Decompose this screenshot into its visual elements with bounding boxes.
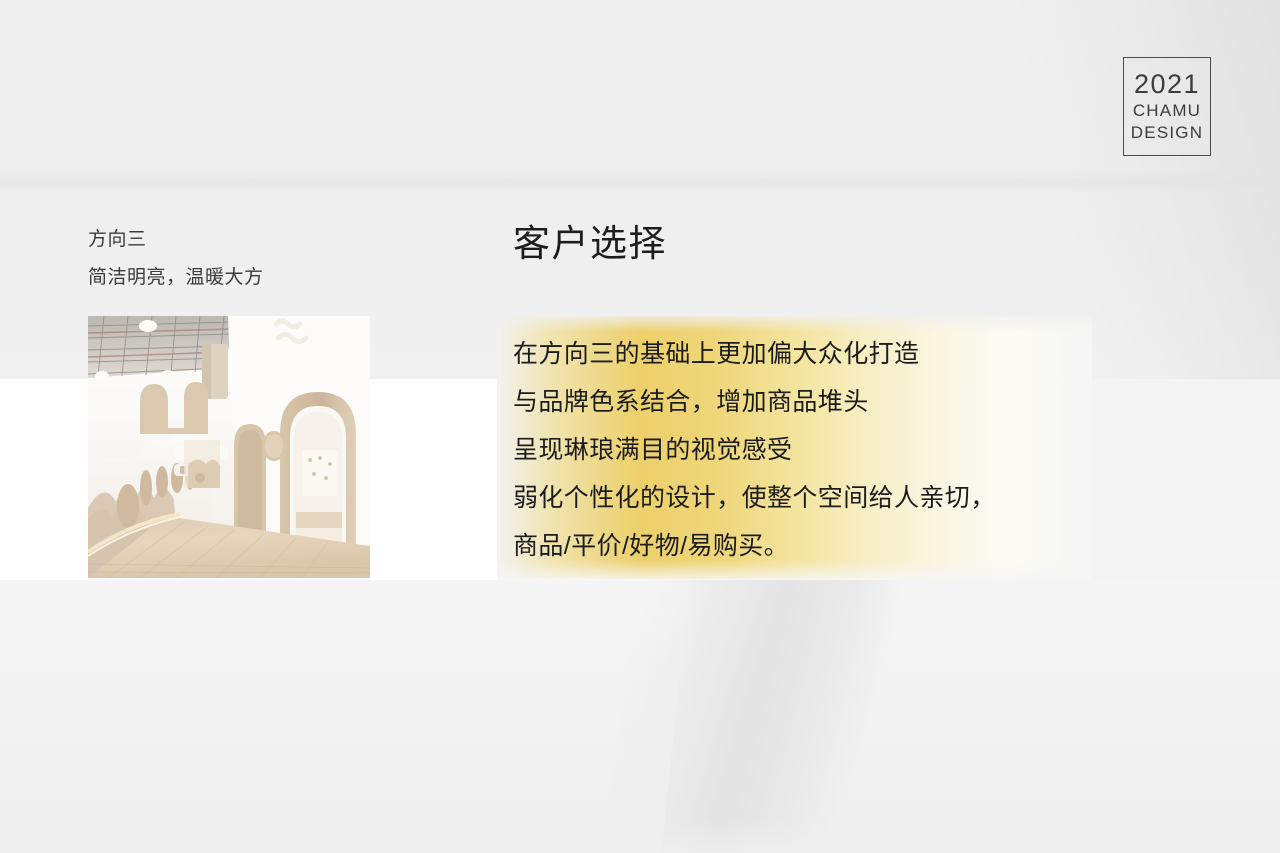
body-copy-block: 在方向三的基础上更加偏大众化打造 与品牌色系结合，增加商品堆头 呈现琳琅满目的视… xyxy=(513,330,1133,570)
body-line: 商品/平价/好物/易购买。 xyxy=(513,522,1133,570)
background-ceiling-seam xyxy=(0,168,1280,194)
background-diagonal-shadow xyxy=(661,580,930,853)
brand-logo: 2021 CHAMU DESIGN xyxy=(1123,57,1211,156)
left-caption-block: 方向三 简洁明亮，温暖大方 xyxy=(88,230,388,287)
body-line: 与品牌色系结合，增加商品堆头 xyxy=(513,378,1133,426)
logo-brand-text: CHAMU xyxy=(1133,100,1201,122)
body-line: 在方向三的基础上更加偏大众化打造 xyxy=(513,330,1133,378)
logo-year-text: 2021 xyxy=(1134,70,1200,98)
presentation-slide: 2021 CHAMU DESIGN 方向三 简洁明亮，温暖大方 xyxy=(0,0,1280,853)
caption-title: 方向三 xyxy=(88,230,388,249)
background-bottom-edge xyxy=(0,819,1280,853)
interior-photo-thumbnail xyxy=(88,316,370,578)
logo-subtitle-text: DESIGN xyxy=(1131,122,1203,144)
caption-subtitle: 简洁明亮，温暖大方 xyxy=(88,268,388,287)
interior-photo-illustration xyxy=(88,316,370,578)
page-title: 客户选择 xyxy=(513,224,667,265)
body-line: 呈现琳琅满目的视觉感受 xyxy=(513,426,1133,474)
body-line: 弱化个性化的设计，使整个空间给人亲切， xyxy=(513,474,1133,522)
